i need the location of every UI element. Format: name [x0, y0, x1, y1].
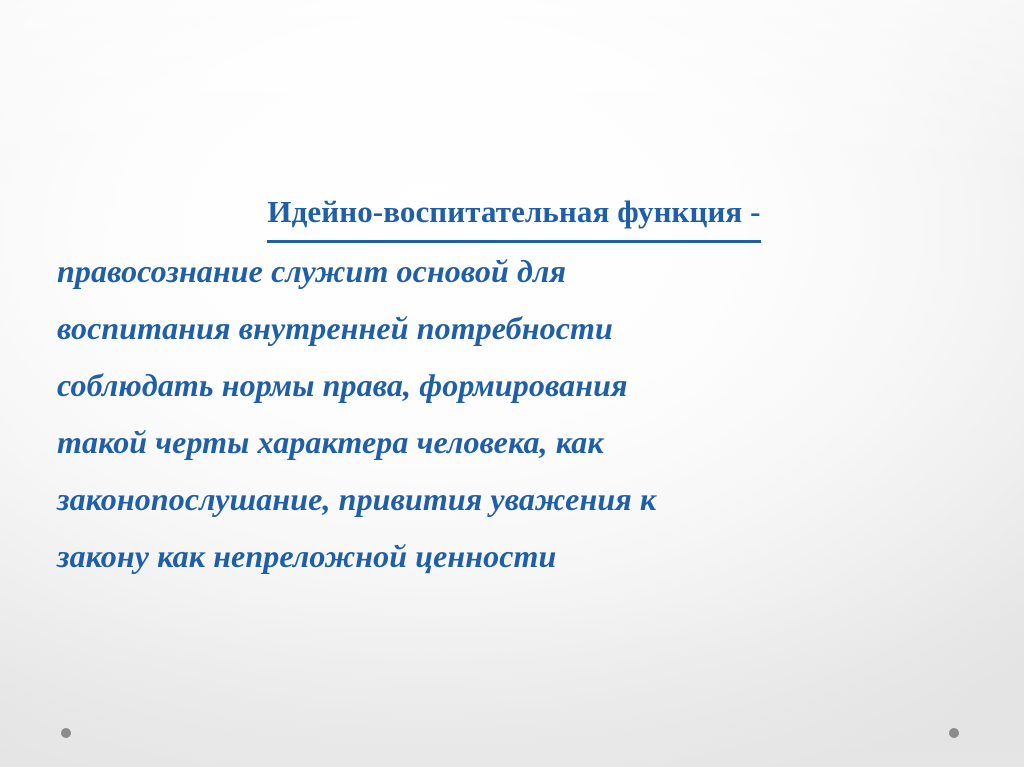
slide-title: Идейно-воспитательная функция - — [57, 186, 957, 243]
body-line-2: воспитания внутренней потребности — [57, 300, 957, 357]
slide-title-text: Идейно-воспитательная функция - — [267, 186, 760, 243]
slide-canvas: Идейно-воспитательная функция - правосоз… — [0, 0, 1024, 767]
decor-dot-right-icon — [949, 728, 959, 738]
body-line-6: закону как непреложной ценности — [57, 528, 957, 585]
slide-text-block: Идейно-воспитательная функция - правосоз… — [57, 186, 957, 585]
body-line-5: законопослушание, привития уважения к — [57, 471, 957, 528]
body-line-3: соблюдать нормы права, формирования — [57, 357, 957, 414]
body-line-4: такой черты характера человека, как — [57, 414, 957, 471]
body-line-1: правосознание служит основой для — [57, 243, 957, 300]
decor-dot-left-icon — [61, 728, 71, 738]
